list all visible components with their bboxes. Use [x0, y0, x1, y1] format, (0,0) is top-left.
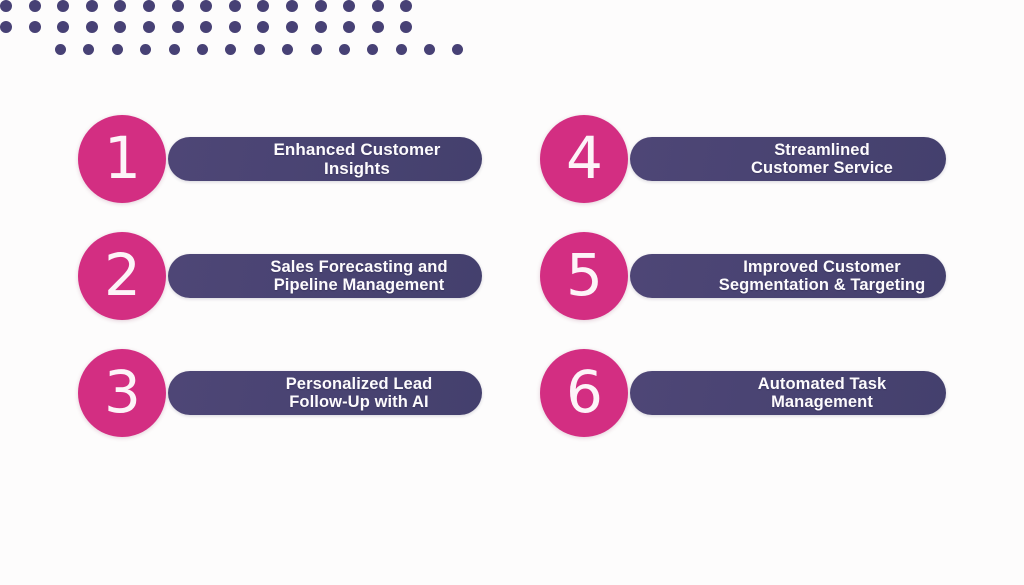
- decor-dot: [396, 44, 407, 55]
- decor-dot: [114, 21, 126, 33]
- benefit-number-1: 1: [104, 129, 140, 187]
- decor-dot: [400, 0, 412, 12]
- decor-dot: [311, 44, 322, 55]
- benefits-grid: Enhanced Customer Insights 1 Sales Forec…: [0, 108, 1024, 458]
- benefit-label-6: Automated Task Management: [758, 375, 887, 412]
- decor-dot: [83, 44, 94, 55]
- decor-dot: [86, 0, 98, 12]
- decor-dot: [372, 21, 384, 33]
- decor-dot: [86, 21, 98, 33]
- benefit-item-4[interactable]: Streamlined Customer Service 4: [540, 108, 1000, 208]
- benefit-number-6: 6: [566, 363, 602, 421]
- decor-dot-line: [0, 21, 1024, 33]
- decor-dot: [315, 21, 327, 33]
- benefit-badge-2: 2: [78, 232, 166, 320]
- benefit-number-2: 2: [104, 246, 140, 304]
- benefit-label-4: Streamlined Customer Service: [751, 141, 893, 178]
- decor-dot: [282, 44, 293, 55]
- decor-dot: [257, 0, 269, 12]
- decor-dot: [112, 44, 123, 55]
- decor-dot: [367, 44, 378, 55]
- decor-dot: [200, 21, 212, 33]
- decor-dot: [424, 44, 435, 55]
- decor-dot: [169, 44, 180, 55]
- benefit-number-4: 4: [566, 129, 602, 187]
- decor-dot: [0, 21, 12, 33]
- decor-dot-line: [0, 0, 1024, 12]
- benefit-pill-4[interactable]: Streamlined Customer Service: [630, 137, 946, 181]
- benefit-badge-5: 5: [540, 232, 628, 320]
- decor-dot: [286, 21, 298, 33]
- decor-dot: [140, 44, 151, 55]
- decor-dot: [143, 21, 155, 33]
- benefit-label-3: Personalized Lead Follow-Up with AI: [286, 375, 433, 412]
- benefit-badge-3: 3: [78, 349, 166, 437]
- benefit-pill-3[interactable]: Personalized Lead Follow-Up with AI: [168, 371, 482, 415]
- infographic-canvas: Enhanced Customer Insights 1 Sales Forec…: [0, 0, 1024, 585]
- decor-dot: [57, 0, 69, 12]
- benefits-column-right: Streamlined Customer Service 4 Improved …: [540, 108, 1000, 459]
- decor-dot: [315, 0, 327, 12]
- decor-dot: [452, 44, 463, 55]
- benefit-badge-6: 6: [540, 349, 628, 437]
- decor-dot: [343, 0, 355, 12]
- decor-dot: [197, 44, 208, 55]
- benefit-item-6[interactable]: Automated Task Management 6: [540, 342, 1000, 442]
- benefit-item-1[interactable]: Enhanced Customer Insights 1: [78, 108, 538, 208]
- decor-dot: [225, 44, 236, 55]
- benefit-item-3[interactable]: Personalized Lead Follow-Up with AI 3: [78, 342, 538, 442]
- benefit-item-2[interactable]: Sales Forecasting and Pipeline Managemen…: [78, 225, 538, 325]
- decor-dot: [29, 0, 41, 12]
- decorative-dots-bottom: [0, 0, 1024, 33]
- benefit-badge-4: 4: [540, 115, 628, 203]
- decor-dot: [172, 21, 184, 33]
- decor-dot: [143, 0, 155, 12]
- decor-dot: [229, 0, 241, 12]
- decor-dot: [172, 0, 184, 12]
- benefit-label-1: Enhanced Customer Insights: [246, 140, 468, 178]
- decor-dot: [372, 0, 384, 12]
- benefit-pill-5[interactable]: Improved Customer Segmentation & Targeti…: [630, 254, 946, 298]
- benefit-number-5: 5: [566, 246, 602, 304]
- decor-dot: [339, 44, 350, 55]
- decor-dot: [114, 0, 126, 12]
- decor-dot: [29, 21, 41, 33]
- benefit-label-2: Sales Forecasting and Pipeline Managemen…: [270, 258, 447, 295]
- benefit-pill-6[interactable]: Automated Task Management: [630, 371, 946, 415]
- benefits-column-left: Enhanced Customer Insights 1 Sales Forec…: [78, 108, 538, 459]
- benefit-badge-1: 1: [78, 115, 166, 203]
- decor-dot: [254, 44, 265, 55]
- decor-dot: [229, 21, 241, 33]
- benefit-pill-2[interactable]: Sales Forecasting and Pipeline Managemen…: [168, 254, 482, 298]
- benefit-label-5: Improved Customer Segmentation & Targeti…: [719, 258, 926, 295]
- benefit-number-3: 3: [104, 363, 140, 421]
- decor-dot: [257, 21, 269, 33]
- decor-dot: [55, 44, 66, 55]
- decor-dot: [400, 21, 412, 33]
- decor-dot: [286, 0, 298, 12]
- benefit-item-5[interactable]: Improved Customer Segmentation & Targeti…: [540, 225, 1000, 325]
- decor-dot: [0, 0, 12, 12]
- benefit-pill-1[interactable]: Enhanced Customer Insights: [168, 137, 482, 181]
- decor-dot: [57, 21, 69, 33]
- decor-dot: [343, 21, 355, 33]
- decor-dot: [200, 0, 212, 12]
- decorative-dots-top: [55, 44, 481, 55]
